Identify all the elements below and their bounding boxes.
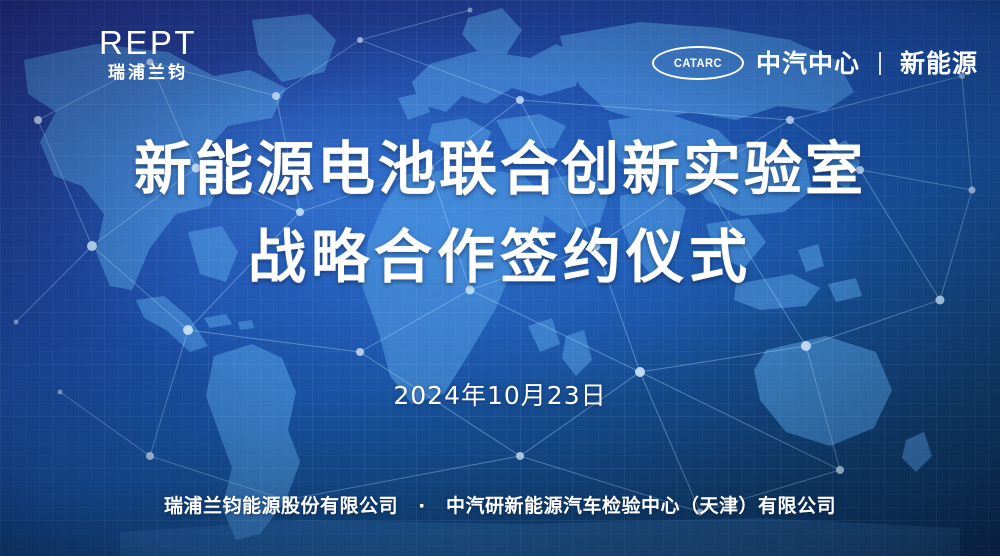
rept-wordmark-chinese: 瑞浦兰钧: [58, 64, 238, 83]
slide-title-line-1: 新能源电池联合创新实验室: [0, 132, 1000, 206]
partner-organizations: 瑞浦兰钧能源股份有限公司 · 中汽研新能源汽车检验中心（天津）有限公司: [0, 491, 1000, 518]
event-date: 2024年10月23日: [0, 376, 1000, 412]
catarc-name-secondary: 新能源: [900, 51, 978, 76]
catarc-name-primary: 中汽中心: [756, 51, 860, 76]
catarc-oval-text: CATARC: [674, 56, 722, 70]
catarc-oval-icon: CATARC: [652, 46, 744, 80]
partner-company-1: 瑞浦兰钧能源股份有限公司: [164, 495, 398, 517]
catarc-logo: CATARC 中汽中心 新能源: [652, 46, 978, 80]
rept-wordmark: REPT: [58, 26, 238, 59]
slide-title-block: 新能源电池联合创新实验室 战略合作签约仪式: [0, 132, 1000, 294]
rept-logo: REPT 瑞浦兰钧: [58, 26, 238, 83]
logo-divider: [879, 52, 881, 75]
slide-title-line-2: 战略合作签约仪式: [0, 220, 1000, 294]
partner-separator: ·: [418, 495, 426, 517]
partner-company-2: 中汽研新能源汽车检验中心（天津）有限公司: [446, 495, 836, 517]
presentation-slide: REPT 瑞浦兰钧 CATARC 中汽中心 新能源 新能源电池联合创新实验室 战…: [0, 0, 1000, 556]
